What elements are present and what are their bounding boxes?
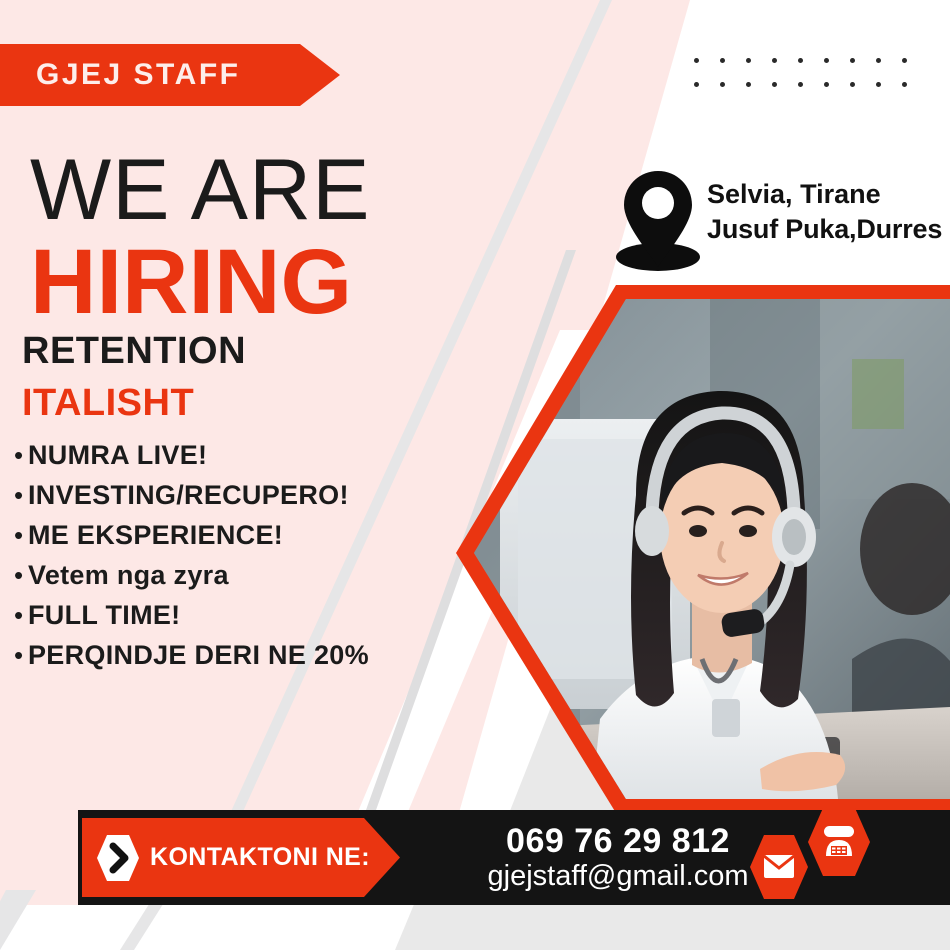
- requirements-list: • NUMRA LIVE! • INVESTING/RECUPERO! • ME…: [14, 440, 484, 680]
- role-title: RETENTION: [22, 330, 246, 373]
- dot-grid-decoration: [694, 58, 928, 106]
- bullet-dot-icon: •: [14, 482, 28, 508]
- bullet-dot-icon: •: [14, 642, 28, 668]
- location-line-1: Selvia, Tirane: [707, 179, 881, 209]
- envelope-icon[interactable]: [748, 833, 810, 901]
- list-item: • Vetem nga zyra: [14, 560, 484, 591]
- list-item: • PERQINDJE DERI NE 20%: [14, 640, 484, 671]
- grid-dot: [798, 82, 803, 87]
- location-address: Selvia, Tirane Jusuf Puka,Durres: [707, 177, 942, 246]
- grid-dot: [720, 58, 725, 63]
- list-item-label: PERQINDJE DERI NE 20%: [28, 640, 369, 671]
- grid-dot: [824, 58, 829, 63]
- grid-dot: [824, 82, 829, 87]
- location-block: Selvia, Tirane Jusuf Puka,Durres: [613, 165, 942, 275]
- list-item: • NUMRA LIVE!: [14, 440, 484, 471]
- list-item-label: FULL TIME!: [28, 600, 180, 631]
- grid-dot: [694, 58, 699, 63]
- location-line-2: Jusuf Puka,Durres: [707, 214, 942, 244]
- contact-cta-label: KONTAKTONI NE:: [150, 843, 370, 872]
- grid-dot: [902, 58, 907, 63]
- brand-name: GJEJ STAFF: [0, 58, 240, 92]
- grid-dot: [746, 58, 751, 63]
- bullet-dot-icon: •: [14, 522, 28, 548]
- grid-dot: [694, 82, 699, 87]
- headline-block: WE ARE HIRING: [30, 150, 371, 328]
- poster-canvas: GJEJ STAFF WE ARE HIRING RETENTION ITALI…: [0, 0, 950, 950]
- grid-dot: [746, 82, 751, 87]
- list-item: • FULL TIME!: [14, 600, 484, 631]
- contact-cta-badge[interactable]: KONTAKTONI NE:: [82, 818, 400, 897]
- brand-banner: GJEJ STAFF: [0, 44, 340, 106]
- map-pin-icon: [613, 165, 703, 275]
- grid-dot: [850, 82, 855, 87]
- grid-dot: [720, 82, 725, 87]
- grid-dot: [798, 58, 803, 63]
- grid-dot: [850, 58, 855, 63]
- list-item-label: Vetem nga zyra: [28, 560, 229, 591]
- grid-dot: [876, 82, 881, 87]
- grid-dot: [876, 58, 881, 63]
- bullet-dot-icon: •: [14, 602, 28, 628]
- grid-dot: [772, 82, 777, 87]
- list-item-label: INVESTING/RECUPERO!: [28, 480, 349, 511]
- contact-phone[interactable]: 069 76 29 812: [506, 822, 730, 861]
- bullet-dot-icon: •: [14, 562, 28, 588]
- list-item-label: ME EKSPERIENCE!: [28, 520, 283, 551]
- contact-email[interactable]: gjejstaff@gmail.com: [488, 860, 749, 893]
- grid-dot: [902, 82, 907, 87]
- list-item: • INVESTING/RECUPERO!: [14, 480, 484, 511]
- grid-dot: [772, 58, 777, 63]
- headline-we-are: WE ARE: [30, 150, 371, 232]
- bullet-dot-icon: •: [14, 442, 28, 468]
- chevron-right-icon: [96, 833, 140, 883]
- telephone-icon[interactable]: [806, 806, 872, 878]
- list-item: • ME EKSPERIENCE!: [14, 520, 484, 551]
- headline-hiring: HIRING: [30, 236, 371, 328]
- list-item-label: NUMRA LIVE!: [28, 440, 207, 471]
- language-requirement: ITALISHT: [22, 382, 194, 425]
